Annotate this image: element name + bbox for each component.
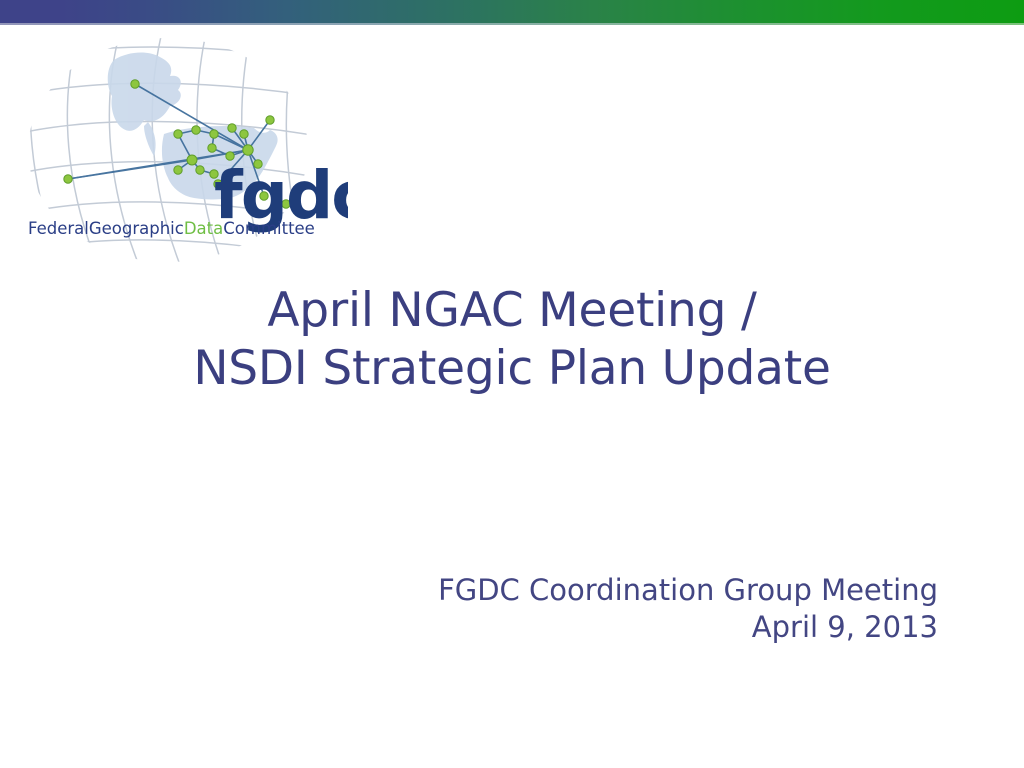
network-node [192, 126, 200, 134]
network-node [210, 130, 218, 138]
fgdc-logo-graphic: fgdc FederalGeographicDataCommittee [18, 38, 348, 268]
top-gradient-bar [0, 0, 1024, 23]
network-node [243, 145, 253, 155]
tagline-committee: Committee [223, 219, 315, 238]
network-node [196, 166, 204, 174]
network-node [174, 130, 182, 138]
alaska-panhandle [144, 122, 156, 156]
tagline-federal-geographic: FederalGeographic [28, 219, 184, 238]
network-node [208, 144, 216, 152]
network-node [228, 124, 236, 132]
network-node [266, 116, 274, 124]
tagline-data: Data [184, 219, 223, 238]
slide-subtitle: FGDC Coordination Group Meeting April 9,… [438, 572, 938, 646]
slide-subtitle-line-2: April 9, 2013 [438, 609, 938, 646]
slide-subtitle-line-1: FGDC Coordination Group Meeting [438, 572, 938, 609]
fgdc-tagline: FederalGeographicDataCommittee [28, 219, 315, 238]
slide-title: April NGAC Meeting / NSDI Strategic Plan… [0, 282, 1024, 398]
alaska-shape [108, 53, 181, 131]
slide-canvas: fgdc FederalGeographicDataCommittee Apri… [0, 0, 1024, 768]
network-node [64, 175, 72, 183]
network-node [187, 155, 197, 165]
network-node [240, 130, 248, 138]
top-gradient-bar-underline [0, 23, 1024, 25]
fgdc-logo: fgdc FederalGeographicDataCommittee [18, 38, 348, 268]
network-node [131, 80, 139, 88]
slide-title-line-1: April NGAC Meeting / [0, 282, 1024, 340]
network-node [174, 166, 182, 174]
slide-title-line-2: NSDI Strategic Plan Update [0, 340, 1024, 398]
